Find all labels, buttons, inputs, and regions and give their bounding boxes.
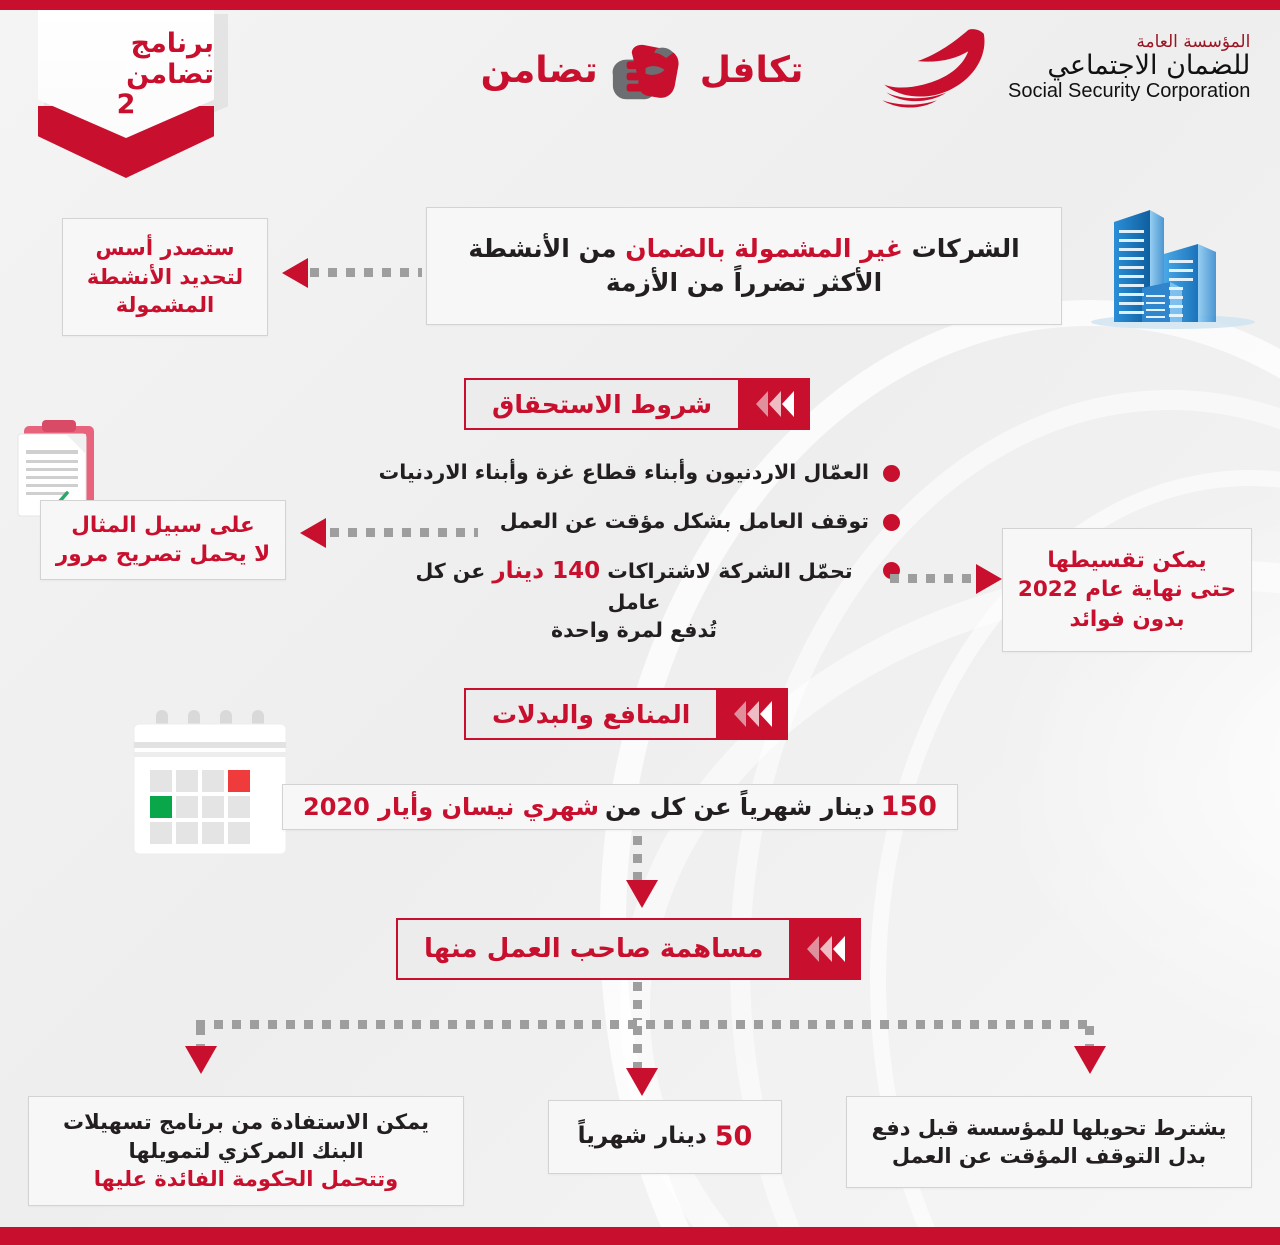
infographic-page: برنامج تضامن 2 تكافل تضامن المؤسسة العام… bbox=[0, 0, 1280, 1245]
triple-chevron-icon bbox=[791, 918, 861, 980]
bottom-red-bar bbox=[0, 1227, 1280, 1245]
intro-side-note-box: ستصدر أسس لتحديد الأنشطة المشمولة bbox=[62, 218, 268, 336]
central-bank-line1: يمكن الاستفادة من برنامج تسهيلات bbox=[63, 1108, 429, 1136]
benefit-amount-value: 150 bbox=[881, 789, 937, 825]
bullet-dot-icon bbox=[883, 514, 900, 531]
benefit-amount-box: 150 دينار شهرياً عن كل من شهري نيسان وأي… bbox=[282, 784, 958, 830]
example-note-line1: على سبيل المثال bbox=[71, 511, 254, 540]
bullet-dot-icon bbox=[883, 465, 900, 482]
employer-arrow-right bbox=[1074, 1046, 1106, 1074]
employer-section-header: مساهمة صاحب العمل منها bbox=[396, 918, 861, 980]
brand-word-takaful: تكافل bbox=[700, 50, 804, 91]
intro-side-note-text: ستصدر أسس لتحديد الأنشطة المشمولة bbox=[77, 234, 253, 319]
eligibility-bullet-2: توقف العامل بشكل مؤقت عن العمل bbox=[500, 507, 869, 536]
intro-headline-line1: الشركات غير المشمولة بالضمان من الأنشطة bbox=[468, 232, 1019, 266]
ssc-logo-text: المؤسسة العامة للضمان الاجتماعي Social S… bbox=[1008, 34, 1250, 101]
list-item: تحمّل الشركة لاشتراكات 140 دينار عن كل ع… bbox=[360, 555, 900, 645]
monthly-amount-card: 50 دينار شهرياً bbox=[548, 1100, 782, 1174]
triple-chevron-icon bbox=[718, 688, 788, 740]
eligibility-bullet-list: العمّال الاردنيون وأبناء قطاع غزة وأبناء… bbox=[360, 458, 900, 665]
bullet-3-amount: 140 دينار bbox=[492, 558, 600, 584]
installment-connector-dots bbox=[890, 574, 980, 583]
office-buildings-icon bbox=[1078, 196, 1268, 340]
intro-headline-box: الشركات غير المشمولة بالضمان من الأنشطة … bbox=[426, 207, 1062, 325]
benefit-to-employer-arrow bbox=[626, 880, 658, 908]
installment-note-box: يمكن تقسيطها حتى نهاية عام 2022 بدون فوا… bbox=[1002, 528, 1252, 652]
clasped-hands-icon bbox=[606, 37, 692, 103]
employer-arrow-mid bbox=[626, 1068, 658, 1096]
transfer-condition-line2: بدل التوقف المؤقت عن العمل bbox=[892, 1142, 1206, 1170]
central-bank-line2: البنك المركزي لتمويلها bbox=[128, 1137, 363, 1165]
bullet-3-prefix: تحمّل الشركة لاشتراكات bbox=[607, 559, 852, 583]
calendar-icon bbox=[126, 706, 298, 862]
top-red-bar bbox=[0, 0, 1280, 10]
benefit-amount-text: دينار شهرياً عن كل من bbox=[605, 791, 875, 823]
employer-branch-right-dots bbox=[1085, 1026, 1094, 1048]
eligibility-section-header: شروط الاستحقاق bbox=[464, 378, 810, 430]
intro-part1: الشركات bbox=[912, 234, 1020, 263]
intro-part2: من الأنشطة bbox=[468, 234, 616, 263]
ssc-logo-line2: للضمان الاجتماعي bbox=[1008, 52, 1250, 80]
intro-connector-dots bbox=[310, 268, 422, 277]
brand-word-tadamon: تضامن bbox=[481, 50, 598, 91]
installment-connector-arrow bbox=[976, 564, 1002, 594]
employer-branch-dots bbox=[196, 1020, 1094, 1029]
intro-headline-line2: الأكثر تضرراً من الأزمة bbox=[606, 266, 882, 300]
tadamon-takaful-brand: تكافل تضامن bbox=[472, 30, 812, 110]
ribbon-number: 2 bbox=[117, 90, 136, 120]
example-note-line2: لا يحمل تصريح مرور bbox=[56, 540, 270, 569]
installment-note-line3: بدون فوائد bbox=[1069, 605, 1184, 634]
benefits-section-header: المنافع والبدلات bbox=[464, 688, 788, 740]
employer-branch-mid-dots bbox=[633, 1026, 642, 1070]
benefit-to-employer-dots bbox=[633, 836, 642, 884]
eligibility-bullet-3: تحمّل الشركة لاشتراكات 140 دينار عن كل ع… bbox=[399, 555, 869, 645]
monthly-amount-text: دينار شهرياً bbox=[578, 1121, 707, 1152]
example-connector-arrow bbox=[300, 518, 326, 548]
benefit-period: شهري نيسان وأيار 2020 bbox=[303, 791, 599, 823]
bullet-3-line2: تُدفع لمرة واحدة bbox=[399, 616, 869, 645]
eligibility-section-title: شروط الاستحقاق bbox=[464, 378, 740, 430]
example-connector-dots bbox=[330, 528, 478, 537]
employer-section-title: مساهمة صاحب العمل منها bbox=[396, 918, 791, 980]
central-bank-facility-card: يمكن الاستفادة من برنامج تسهيلات البنك ا… bbox=[28, 1096, 464, 1206]
intro-connector-arrow bbox=[282, 258, 308, 288]
eligibility-bullet-1: العمّال الاردنيون وأبناء قطاع غزة وأبناء… bbox=[379, 458, 869, 487]
employer-stem-dots bbox=[633, 982, 642, 1020]
installment-note-line2: حتى نهاية عام 2022 bbox=[1018, 575, 1236, 604]
ssc-bird-icon bbox=[878, 28, 996, 108]
ssc-logo-line3: Social Security Corporation bbox=[1008, 81, 1250, 102]
eligibility-example-note-box: على سبيل المثال لا يحمل تصريح مرور bbox=[40, 500, 286, 580]
central-bank-line3: وتتحمل الحكومة الفائدة عليها bbox=[94, 1165, 398, 1193]
intro-highlight: غير المشمولة بالضمان bbox=[625, 234, 903, 263]
monthly-amount-value: 50 bbox=[715, 1119, 753, 1155]
ssc-logo: المؤسسة العامة للضمان الاجتماعي Social S… bbox=[878, 18, 1258, 118]
triple-chevron-icon bbox=[740, 378, 810, 430]
transfer-condition-line1: يشترط تحويلها للمؤسسة قبل دفع bbox=[872, 1114, 1227, 1142]
transfer-condition-card: يشترط تحويلها للمؤسسة قبل دفع بدل التوقف… bbox=[846, 1096, 1252, 1188]
employer-branch-left-dots bbox=[196, 1026, 205, 1048]
employer-arrow-left bbox=[185, 1046, 217, 1074]
ribbon-title: برنامج تضامن bbox=[38, 28, 214, 90]
benefits-section-title: المنافع والبدلات bbox=[464, 688, 718, 740]
installment-note-line1: يمكن تقسيطها bbox=[1047, 546, 1206, 575]
list-item: العمّال الاردنيون وأبناء قطاع غزة وأبناء… bbox=[360, 458, 900, 487]
